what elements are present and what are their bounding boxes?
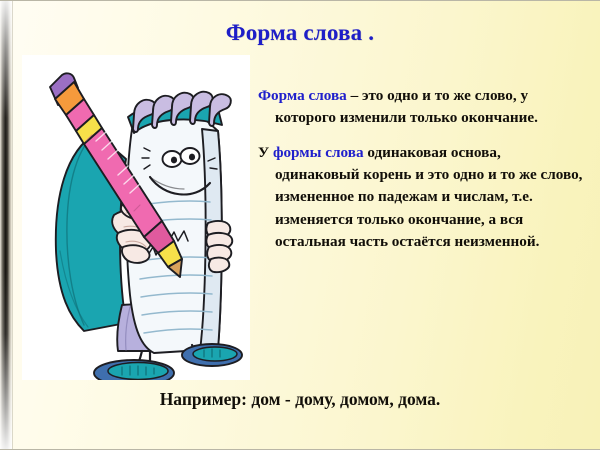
slide-canvas: Форма слова . [0, 0, 600, 450]
page-fold-edge [12, 1, 13, 450]
paragraph-definition: Форма слова – это одно и то же слово, у … [258, 85, 588, 129]
cartoon-notepad-character-icon [22, 55, 250, 380]
paragraph-properties: У формы слова одинаковая основа, одинако… [258, 142, 588, 253]
properties-lead: У [258, 144, 273, 161]
page-fold-shadow [0, 1, 12, 450]
body-text-block: Форма слова – это одно и то же слово, у … [258, 85, 588, 253]
page-title: Форма слова . [0, 20, 600, 46]
illustration-panel [22, 55, 250, 380]
term-forma-slova: Форма слова [258, 87, 347, 104]
term-formy-slova: формы слова [273, 144, 364, 161]
example-line: Например: дом - дому, домом, дома. [0, 389, 600, 410]
